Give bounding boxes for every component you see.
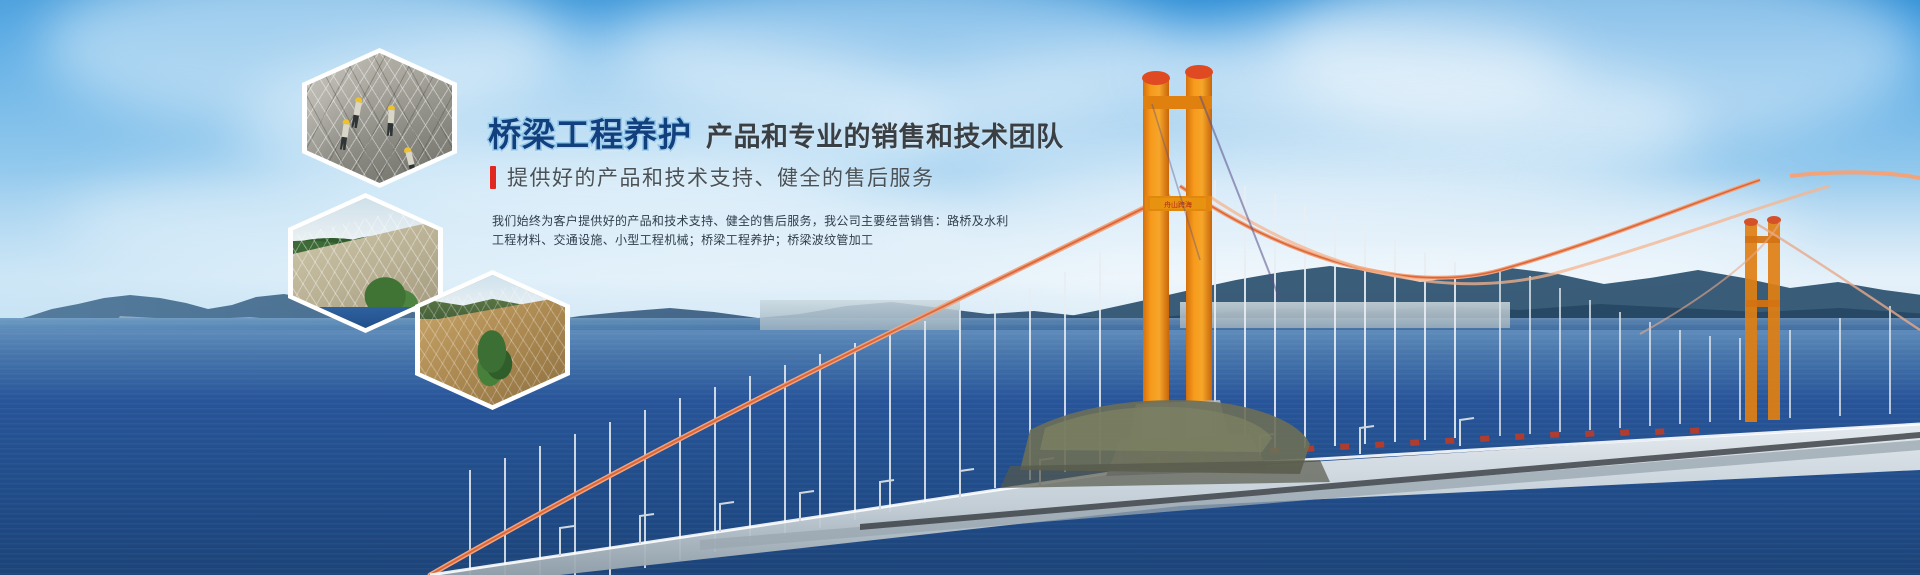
- photo-dry-slope: [420, 275, 565, 405]
- hex-photo-rock-slope[interactable]: [302, 48, 457, 188]
- banner-headline: 桥梁工程养护产品和专业的销售和技术团队: [488, 118, 1108, 151]
- paragraph-line-1: 我们始终为客户提供好的产品和技术支持、健全的售后服务，我公司主要经营销售：路桥及…: [492, 212, 1108, 231]
- headline-secondary: 产品和专业的销售和技术团队: [706, 122, 1064, 152]
- subheadline-text: 提供好的产品和技术支持、健全的售后服务: [507, 162, 935, 192]
- tree: [469, 327, 521, 395]
- wire-mesh-overlay-dark: [307, 53, 452, 183]
- headline-primary: 桥梁工程养护: [488, 116, 692, 153]
- coastal-town: [760, 300, 960, 330]
- accent-bar-icon: [490, 166, 496, 189]
- photo-rock-slope-mesh: [307, 53, 452, 183]
- banner-subheadline: 提供好的产品和技术支持、健全的售后服务: [490, 162, 1108, 192]
- hero-banner: 舟山跨海: [0, 0, 1920, 575]
- coastal-town: [1180, 302, 1510, 328]
- paragraph-line-2: 工程材料、交通设施、小型工程机械；桥梁工程养护；桥梁波纹管加工: [492, 231, 1108, 250]
- banner-paragraph: 我们始终为客户提供好的产品和技术支持、健全的售后服务，我公司主要经营销售：路桥及…: [492, 212, 1108, 250]
- banner-copy: 桥梁工程养护产品和专业的销售和技术团队 提供好的产品和技术支持、健全的售后服务 …: [488, 118, 1108, 250]
